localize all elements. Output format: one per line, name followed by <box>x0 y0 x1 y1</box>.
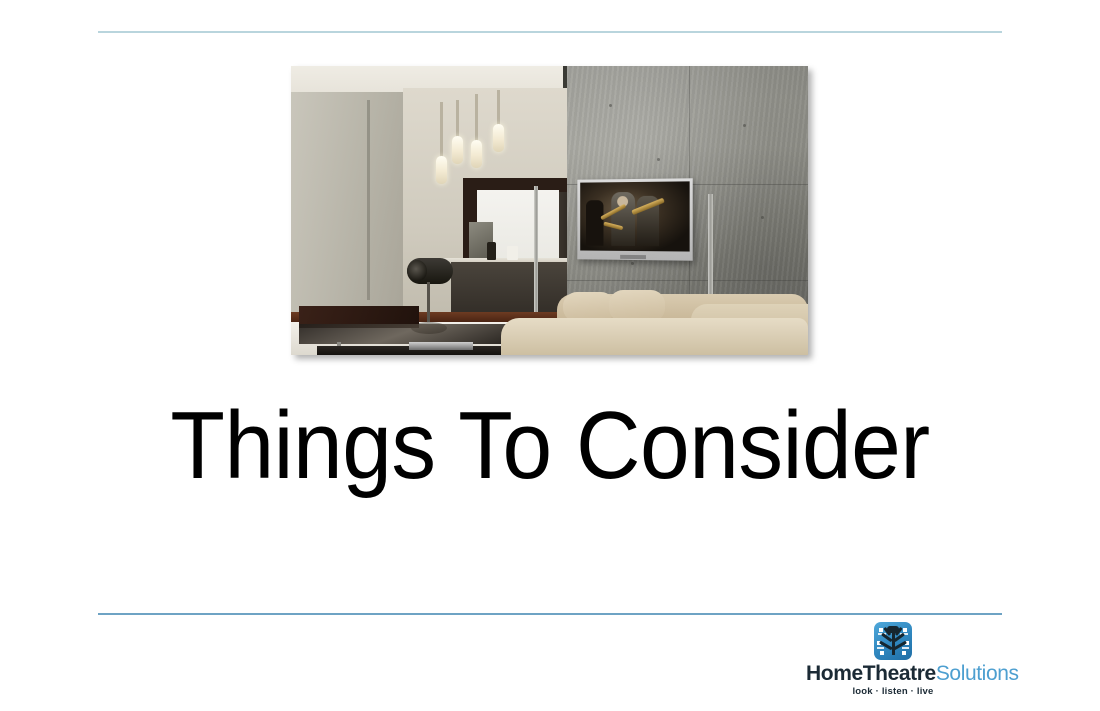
logo-word-primary: HomeTheatre <box>806 662 936 685</box>
logo-tagline: look · listen · live <box>806 686 980 697</box>
page-title: Things To Consider <box>39 398 1062 494</box>
pendant-light <box>456 100 459 138</box>
brand-logo: HomeTheatreSolutions look · listen · liv… <box>806 622 980 697</box>
photo-sofa-seat <box>501 318 808 355</box>
living-room-photo-illustration <box>291 66 808 355</box>
photo-tv-brand-plate <box>620 255 646 259</box>
photo-av-component <box>409 342 473 350</box>
photo-cup <box>507 246 518 260</box>
photo-form-tie <box>761 216 764 219</box>
photo-wall-edge <box>367 100 370 300</box>
photo-glass-coffee-table <box>299 324 514 344</box>
logo-wordmark: HomeTheatreSolutions <box>806 663 980 685</box>
bottom-divider-rule <box>98 613 1002 615</box>
pendant-light <box>440 102 443 158</box>
top-divider-rule <box>98 31 1002 33</box>
photo-tv-musician <box>586 200 603 246</box>
photo-floor-lamp-pole <box>534 186 538 326</box>
logo-word-secondary: Solutions <box>936 662 1019 685</box>
photo-tv-screen <box>580 181 689 251</box>
photo-form-tie <box>631 262 634 265</box>
pendant-light <box>497 90 500 126</box>
photo-concrete-seam <box>567 280 808 281</box>
presentation-slide: Things To Consider HomeTheatreSolutions … <box>0 0 1100 711</box>
pendant-light <box>475 94 478 142</box>
photo-vase <box>487 242 496 260</box>
photo-form-tie <box>743 124 746 127</box>
photo-loudspeaker-cone <box>407 260 427 282</box>
photo-form-tie <box>657 158 660 161</box>
photo-flat-screen-tv <box>577 178 692 260</box>
photo-form-tie <box>609 104 612 107</box>
hero-photo <box>291 66 808 355</box>
tree-circuit-icon <box>874 622 912 660</box>
